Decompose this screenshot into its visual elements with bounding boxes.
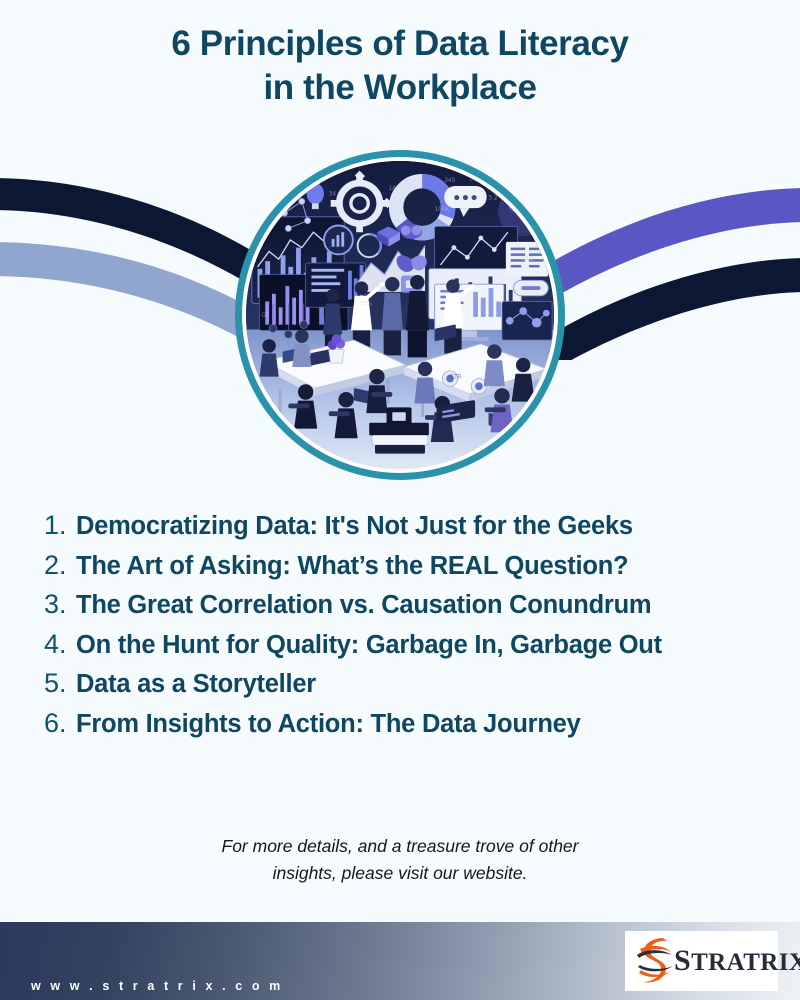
title-line-2: in the Workplace <box>0 66 800 110</box>
brand-logo-initial: S <box>674 944 691 977</box>
brand-logo-rest: TRATRIX <box>691 949 800 976</box>
list-item-label: Data as a Storyteller <box>76 665 316 705</box>
list-item-label: On the Hunt for Quality: Garbage In, Gar… <box>76 626 662 666</box>
svg-text:5.2: 5.2 <box>489 196 499 202</box>
svg-text:37B4: 37B4 <box>371 286 386 292</box>
svg-text:34: 34 <box>329 192 337 198</box>
hero-circle-inner: 34 1A 345 39 Pts 5.2 51% 37B4 GT 100k CA… <box>246 161 554 469</box>
list-item: 1. Democratizing Data: It's Not Just for… <box>44 506 764 546</box>
stratrix-swoosh-icon <box>633 935 677 987</box>
infographic-poster: 6 Principles of Data Literacy in the Wor… <box>0 0 800 1000</box>
hero-illustration: 34 1A 345 39 Pts 5.2 51% 37B4 GT 100k CA… <box>235 150 565 480</box>
list-item: 3. The Great Correlation vs. Causation C… <box>44 585 764 625</box>
page-title: 6 Principles of Data Literacy in the Wor… <box>0 22 800 110</box>
list-item-number: 3. <box>44 585 76 625</box>
list-item-number: 4. <box>44 625 76 665</box>
node-graph-screen <box>502 302 552 341</box>
person-seated-5 <box>366 369 387 413</box>
list-item-number: 5. <box>44 664 76 704</box>
note-line-1: For more details, and a treasure trove o… <box>0 833 800 860</box>
svg-text:CAD: CAD <box>521 257 534 263</box>
office-data-scene-icon: 34 1A 345 39 Pts 5.2 51% 37B4 GT 100k CA… <box>246 161 554 469</box>
list-item-label: The Great Correlation vs. Causation Conu… <box>76 586 651 626</box>
svg-text:51%: 51% <box>360 301 373 307</box>
list-item: 2. The Art of Asking: What’s the REAL Qu… <box>44 546 764 586</box>
brand-logo[interactable]: STRATRIX <box>625 931 778 991</box>
footer-bar: w w w . s t r a t r i x . c o m STRATRIX <box>0 922 800 1000</box>
call-to-action-note: For more details, and a treasure trove o… <box>0 833 800 887</box>
note-line-2: insights, please visit our website. <box>0 860 800 887</box>
list-item-label: From Insights to Action: The Data Journe… <box>76 705 581 745</box>
svg-text:39 Pts: 39 Pts <box>469 176 487 182</box>
principles-list: 1. Democratizing Data: It's Not Just for… <box>44 506 764 743</box>
svg-text:345: 345 <box>444 178 455 184</box>
list-item: 5. Data as a Storyteller <box>44 664 764 704</box>
cloud-icon <box>401 225 422 238</box>
gauge-icon <box>324 225 353 254</box>
hero-circle-ring: 34 1A 345 39 Pts 5.2 51% 37B4 GT 100k CA… <box>235 150 565 480</box>
svg-text:1A: 1A <box>388 186 396 192</box>
website-url[interactable]: w w w . s t r a t r i x . c o m <box>31 979 283 993</box>
list-item-number: 6. <box>44 704 76 744</box>
pill-tag-icon <box>514 280 549 295</box>
list-item-number: 2. <box>44 546 76 586</box>
list-item: 6. From Insights to Action: The Data Jou… <box>44 704 764 744</box>
title-line-1: 6 Principles of Data Literacy <box>0 22 800 66</box>
svg-text:100k: 100k <box>435 207 450 213</box>
list-item-label: Democratizing Data: It's Not Just for th… <box>76 507 633 547</box>
list-item: 4. On the Hunt for Quality: Garbage In, … <box>44 625 764 665</box>
svg-text:GT: GT <box>261 313 269 319</box>
list-item-label: The Art of Asking: What’s the REAL Quest… <box>76 547 628 587</box>
brand-logo-text: STRATRIX <box>674 944 800 978</box>
svg-text:CTR: CTR <box>450 375 462 381</box>
list-item-number: 1. <box>44 506 76 546</box>
